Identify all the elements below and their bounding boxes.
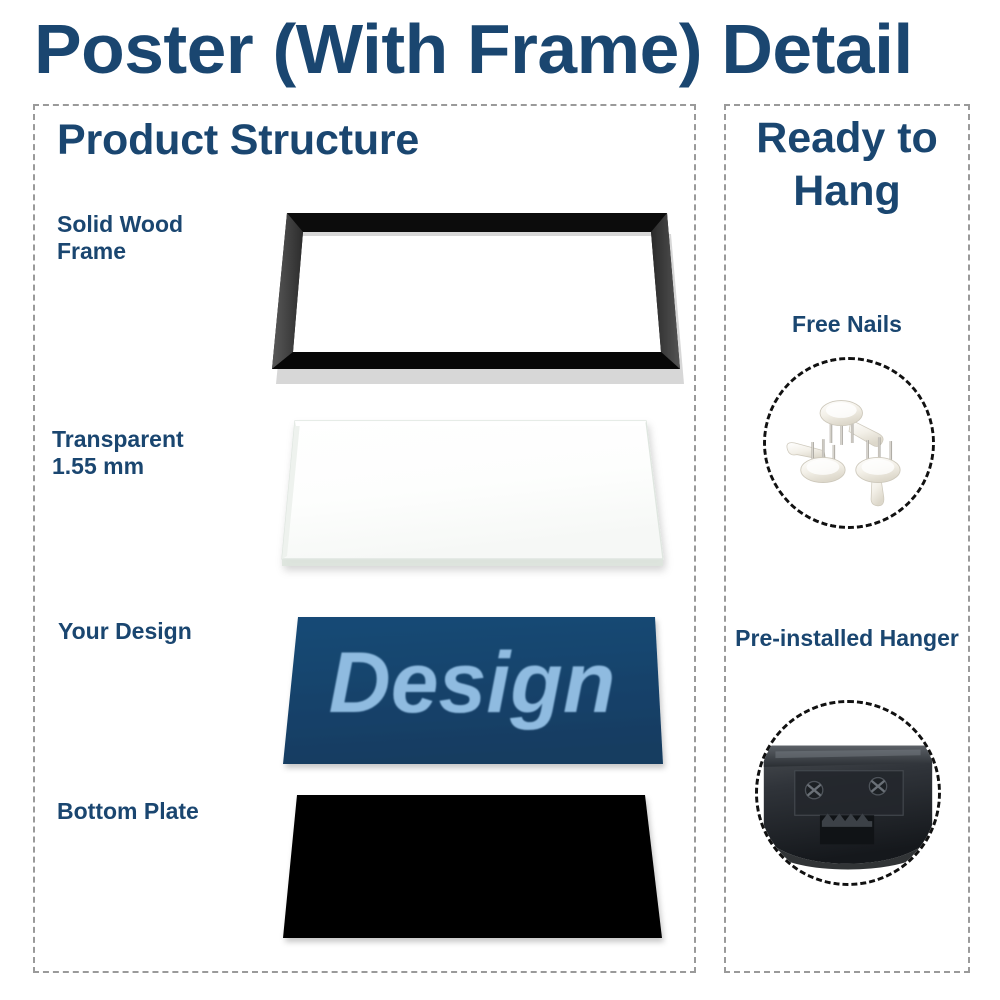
- ready-to-hang-heading: Ready to Hang: [724, 112, 970, 218]
- free-nails-label: Free Nails: [724, 310, 970, 339]
- page-title: Poster (With Frame) Detail: [34, 8, 993, 90]
- row-label-transparent: Transparent 1.55 mm: [52, 426, 184, 480]
- row-label-solid-wood-frame: Solid Wood Frame: [57, 211, 183, 265]
- row-label-bottom-plate: Bottom Plate: [57, 798, 199, 825]
- sawtooth-slot: [820, 813, 874, 844]
- row-label-your-design: Your Design: [58, 618, 192, 645]
- hanger-photo: [758, 703, 938, 883]
- nails-photo-circle: [763, 357, 935, 529]
- screw-left: [804, 780, 823, 799]
- nails-photo: [766, 360, 932, 526]
- screw-right: [868, 777, 887, 796]
- hanger-photo-circle: [755, 700, 941, 886]
- infographic-stage: Poster (With Frame) Detail Product Struc…: [0, 0, 1000, 1000]
- product-structure-heading: Product Structure: [57, 116, 419, 165]
- pre-installed-hanger-label: Pre-installed Hanger: [724, 624, 970, 653]
